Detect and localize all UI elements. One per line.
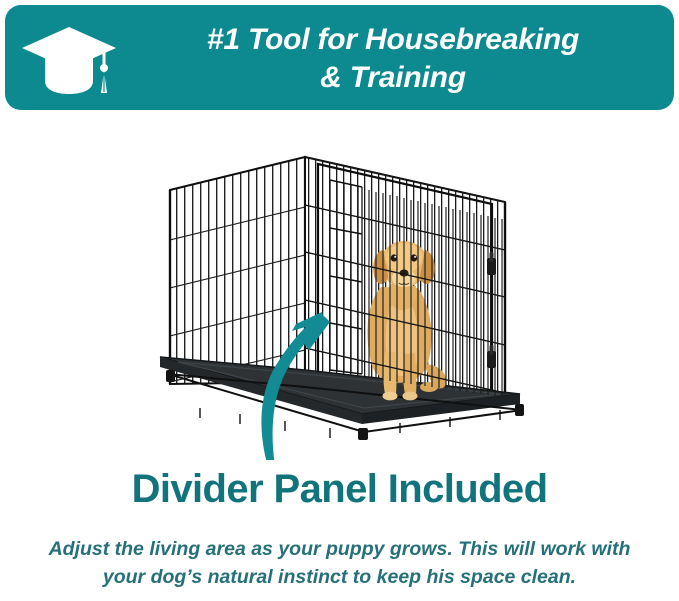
- page-subcopy: Adjust the living area as your puppy gro…: [30, 536, 649, 591]
- graduation-cap-icon: [19, 21, 119, 99]
- banner-headline: #1 Tool for Housebreaking & Training: [123, 13, 663, 105]
- page-subcopy-line-2: your dog’s natural instinct to keep his …: [30, 564, 649, 592]
- promo-banner: #1 Tool for Housebreaking & Training: [5, 5, 674, 110]
- product-photo: [0, 112, 679, 460]
- banner-headline-line-1: #1 Tool for Housebreaking: [207, 21, 579, 59]
- page-subcopy-line-1: Adjust the living area as your puppy gro…: [30, 536, 649, 564]
- banner-headline-line-2: & Training: [320, 59, 466, 97]
- annotation-arrow: [0, 112, 679, 460]
- page-headline: Divider Panel Included: [0, 468, 679, 510]
